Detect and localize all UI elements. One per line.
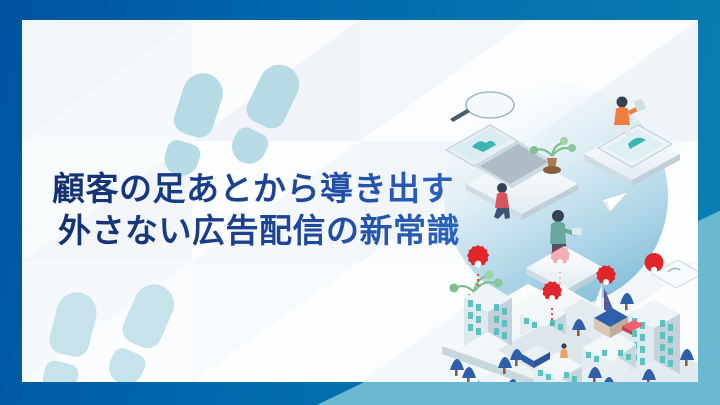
footprint-heel	[226, 124, 271, 169]
footprint-heel	[39, 359, 80, 382]
tree	[450, 359, 464, 376]
headline-line-2: 外さない広告配信の新常識	[58, 210, 460, 252]
footprint-sole	[118, 278, 181, 353]
footprint-sole	[242, 58, 306, 133]
content-stage: 顧客の足あとから導き出す 外さない広告配信の新常識	[22, 20, 698, 382]
footprint-heel	[104, 345, 149, 382]
headline-line-1: 顧客の足あとから導き出す	[52, 168, 460, 210]
tree	[620, 293, 634, 310]
footprint-sole	[47, 288, 101, 360]
footprint-sole	[170, 68, 228, 141]
tree	[462, 367, 476, 382]
banner-slide: 顧客の足あとから導き出す 外さない広告配信の新常識	[0, 0, 720, 405]
page-title: 顧客の足あとから導き出す 外さない広告配信の新常識	[52, 168, 460, 252]
